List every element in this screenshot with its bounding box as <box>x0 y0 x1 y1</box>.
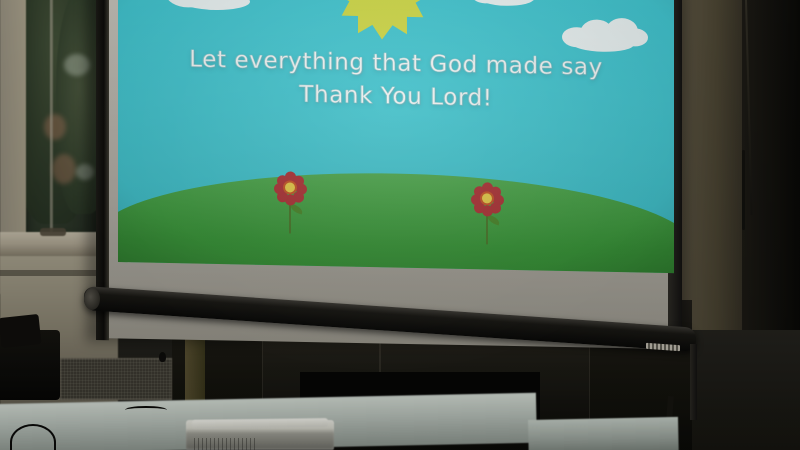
cloud-icon <box>562 17 648 55</box>
projector-device-top <box>192 418 328 429</box>
photo-scene: Let everything that God made say Thank Y… <box>0 0 800 450</box>
hanging-cord-weight <box>742 150 745 230</box>
projector-vent <box>194 438 258 450</box>
screen-rail-endcap <box>84 288 100 310</box>
window-mullion <box>50 0 53 242</box>
flower-icon <box>274 173 308 236</box>
sill-object <box>40 228 66 236</box>
projected-slide: Let everything that God made say Thank Y… <box>118 0 674 273</box>
sun-icon <box>334 0 430 44</box>
foliage-highlight <box>52 154 76 184</box>
cable <box>125 406 167 414</box>
cloud-icon <box>166 0 276 13</box>
dark-furniture <box>0 314 41 348</box>
cloud-icon <box>470 0 544 11</box>
flower-icon <box>471 184 505 247</box>
slide-text: Let everything that God made say Thank Y… <box>118 42 674 119</box>
slide-text-line-1: Let everything that God made say <box>189 46 603 80</box>
foliage-highlight <box>44 114 66 140</box>
radiator-grille <box>60 358 172 400</box>
table <box>528 417 679 450</box>
screen-mount-bracket <box>690 344 697 420</box>
radiator-knob <box>159 352 166 362</box>
